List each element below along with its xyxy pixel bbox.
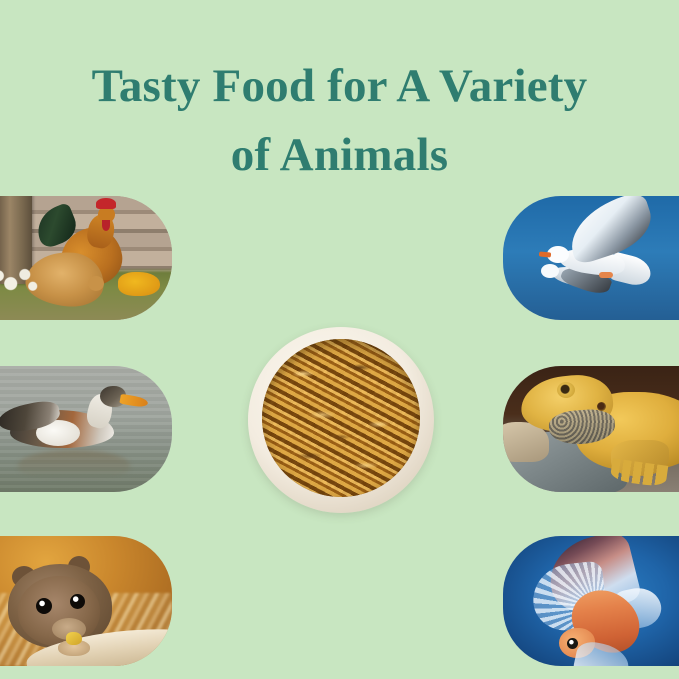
mealworms-highlights — [262, 339, 420, 497]
duck-photo-tile — [0, 366, 172, 492]
hamster-food-pellet-shape — [66, 632, 82, 645]
gull-leg-shape — [599, 272, 613, 278]
bearded-dragon-image — [503, 366, 679, 492]
hamster-photo-tile — [0, 536, 172, 666]
betta-fish-image — [503, 536, 679, 666]
page-title-line-2: of Animals — [0, 121, 679, 190]
mealworm-bowl — [248, 327, 434, 513]
flowers-shape — [0, 268, 38, 294]
hamster-right-eye-shape — [70, 594, 85, 609]
pumpkin-shape — [118, 272, 160, 296]
betta-fish-photo-tile — [503, 536, 679, 666]
duck-reflection-shape — [18, 450, 130, 480]
gull-beak-shape — [539, 251, 551, 257]
seagulls-photo-tile — [503, 196, 679, 320]
page-title: Tasty Food for A Variety of Animals — [0, 52, 679, 190]
lizard-second-eye-shape — [597, 402, 606, 411]
mealworm-bowl-contents — [262, 339, 420, 497]
second-gull-head-shape — [541, 264, 559, 278]
duck-image — [0, 366, 172, 492]
fish-eye-shape — [567, 638, 578, 649]
bearded-dragon-photo-tile — [503, 366, 679, 492]
rooster-wattle-shape — [102, 220, 110, 231]
chickens-image — [0, 196, 172, 320]
seagulls-image — [503, 196, 679, 320]
hamster-image — [0, 536, 172, 666]
chickens-photo-tile — [0, 196, 172, 320]
lizard-eye-shape — [557, 382, 575, 398]
hen-head-shape — [88, 276, 104, 291]
product-infographic: Tasty Food for A Variety of Animals — [0, 0, 679, 679]
hamster-left-eye-shape — [36, 598, 52, 614]
rooster-comb-shape — [96, 198, 116, 209]
page-title-line-1: Tasty Food for A Variety — [0, 52, 679, 121]
